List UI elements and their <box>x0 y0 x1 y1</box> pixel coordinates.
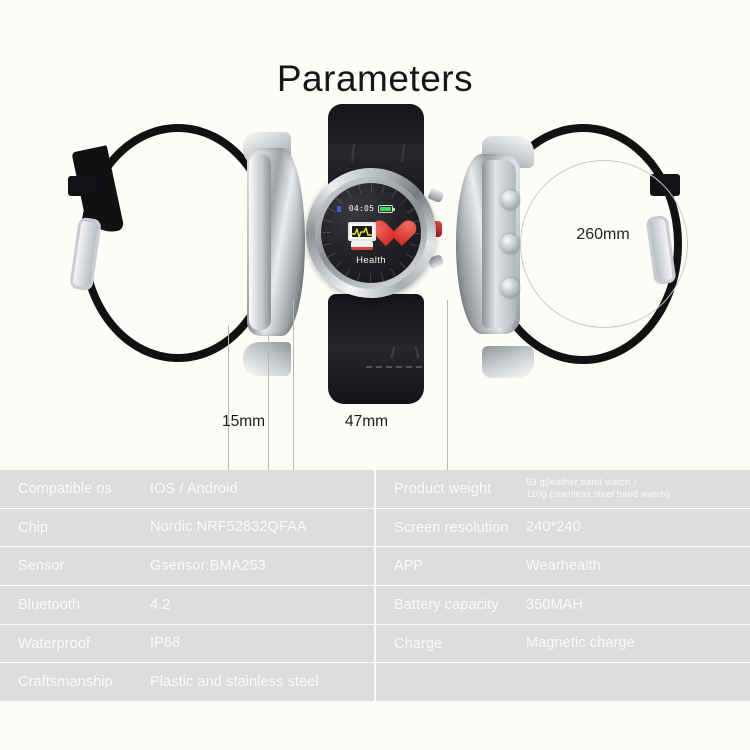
spec-label: Screen resolution <box>376 520 526 536</box>
crown-button-1[interactable] <box>500 190 520 210</box>
spec-value: Nordic NRF52832QFAA <box>150 518 374 536</box>
circumference-label: 260mm <box>520 226 686 244</box>
watch-screen[interactable]: 04:05 Hea <box>321 183 421 283</box>
screen-app-label: Health <box>321 255 421 266</box>
spec-value: Magnetic charge <box>526 634 750 652</box>
watch-lug-bottom <box>482 346 534 378</box>
strap-stitching <box>366 366 442 368</box>
battery-icon <box>378 205 393 213</box>
top-side-button[interactable] <box>427 188 444 203</box>
spec-value-line-1: 53 g(leather band watch ) <box>526 477 750 489</box>
watch-profile-view-right: 260mm <box>462 114 702 400</box>
strap-lower <box>328 294 424 404</box>
table-row: Sensor Gsensor:BMA253 <box>0 547 374 585</box>
dimension-leader-line-3 <box>293 300 294 495</box>
spec-value: 4.2 <box>150 596 374 614</box>
spec-table-right-column: Product weight 53 g(leather band watch )… <box>376 470 750 702</box>
specifications-table: Compatible os IOS / Android Chip Nordic … <box>0 470 750 702</box>
table-row: Screen resolution 240*240 <box>376 509 750 547</box>
spec-label: Craftsmanship <box>0 674 150 690</box>
spec-label: Sensor <box>0 558 150 574</box>
spec-value: IOS / Android <box>150 480 374 498</box>
watch-front-view: 04:05 Hea <box>300 104 452 404</box>
product-image-area: 04:05 Hea <box>0 100 750 460</box>
watch-case-profile <box>456 154 520 334</box>
table-row: Product weight 53 g(leather band watch )… <box>376 470 750 508</box>
screen-time: 04:05 <box>349 204 375 213</box>
watch-side-view-left <box>62 114 297 394</box>
crown-button-3[interactable] <box>500 278 520 298</box>
spec-table-left-column: Compatible os IOS / Android Chip Nordic … <box>0 470 374 702</box>
spec-value-line-2: 110g (stainless steel band watch) <box>526 489 750 501</box>
table-row: Waterproof IP68 <box>0 625 374 663</box>
spec-value: Plastic and stainless steel <box>150 673 374 691</box>
watch-lug-bottom <box>243 342 291 376</box>
watch-case-bezel: 04:05 Hea <box>306 168 436 298</box>
crown-button-2[interactable] <box>500 234 520 254</box>
strap-chevron-detail <box>390 347 419 358</box>
bluetooth-indicator-icon <box>337 206 341 212</box>
battery-fill <box>380 207 391 211</box>
dimension-leader-line-4 <box>447 300 448 495</box>
spec-label: Chip <box>0 520 150 536</box>
ecg-waveform-icon <box>351 226 373 239</box>
spec-label: Product weight <box>376 481 526 497</box>
dimension-label-case-diameter: 47mm <box>345 413 388 431</box>
table-row: Charge Magnetic charge <box>376 625 750 663</box>
spec-value: 53 g(leather band watch ) 110g (stainles… <box>526 477 750 501</box>
spec-value: Gsensor:BMA253 <box>150 557 374 575</box>
spec-label: Battery capacity <box>376 597 526 613</box>
spec-label: Compatible os <box>0 481 150 497</box>
screen-status-bar: 04:05 <box>321 204 421 213</box>
spec-label: APP <box>376 558 526 574</box>
band-keeper <box>68 176 102 196</box>
spec-value: IP68 <box>150 634 374 652</box>
table-row: APP Wearhealth <box>376 547 750 585</box>
table-row-empty <box>376 663 750 701</box>
spec-label: Bluetooth <box>0 597 150 613</box>
table-row: Bluetooth 4.2 <box>0 586 374 624</box>
dimension-label-band-width: 15mm <box>222 413 265 431</box>
ecg-monitor-base <box>351 241 373 250</box>
ecg-monitor-icon <box>347 221 377 251</box>
parameters-page: Parameters <box>0 0 750 750</box>
spec-value: Wearhealth <box>526 557 750 575</box>
circumference-circle <box>520 160 688 328</box>
spec-value: 350MAH <box>526 596 750 614</box>
table-row: Chip Nordic NRF52832QFAA <box>0 509 374 547</box>
spec-label: Charge <box>376 636 526 652</box>
table-row: Compatible os IOS / Android <box>0 470 374 508</box>
spec-value: 240*240 <box>526 518 750 536</box>
watch-case-side <box>247 148 305 336</box>
bezel-inner-ring: 04:05 Hea <box>315 177 427 289</box>
table-row: Battery capacity 350MAH <box>376 586 750 624</box>
table-row: Craftsmanship Plastic and stainless stee… <box>0 663 374 701</box>
page-title: Parameters <box>0 58 750 100</box>
spec-label: Waterproof <box>0 636 150 652</box>
